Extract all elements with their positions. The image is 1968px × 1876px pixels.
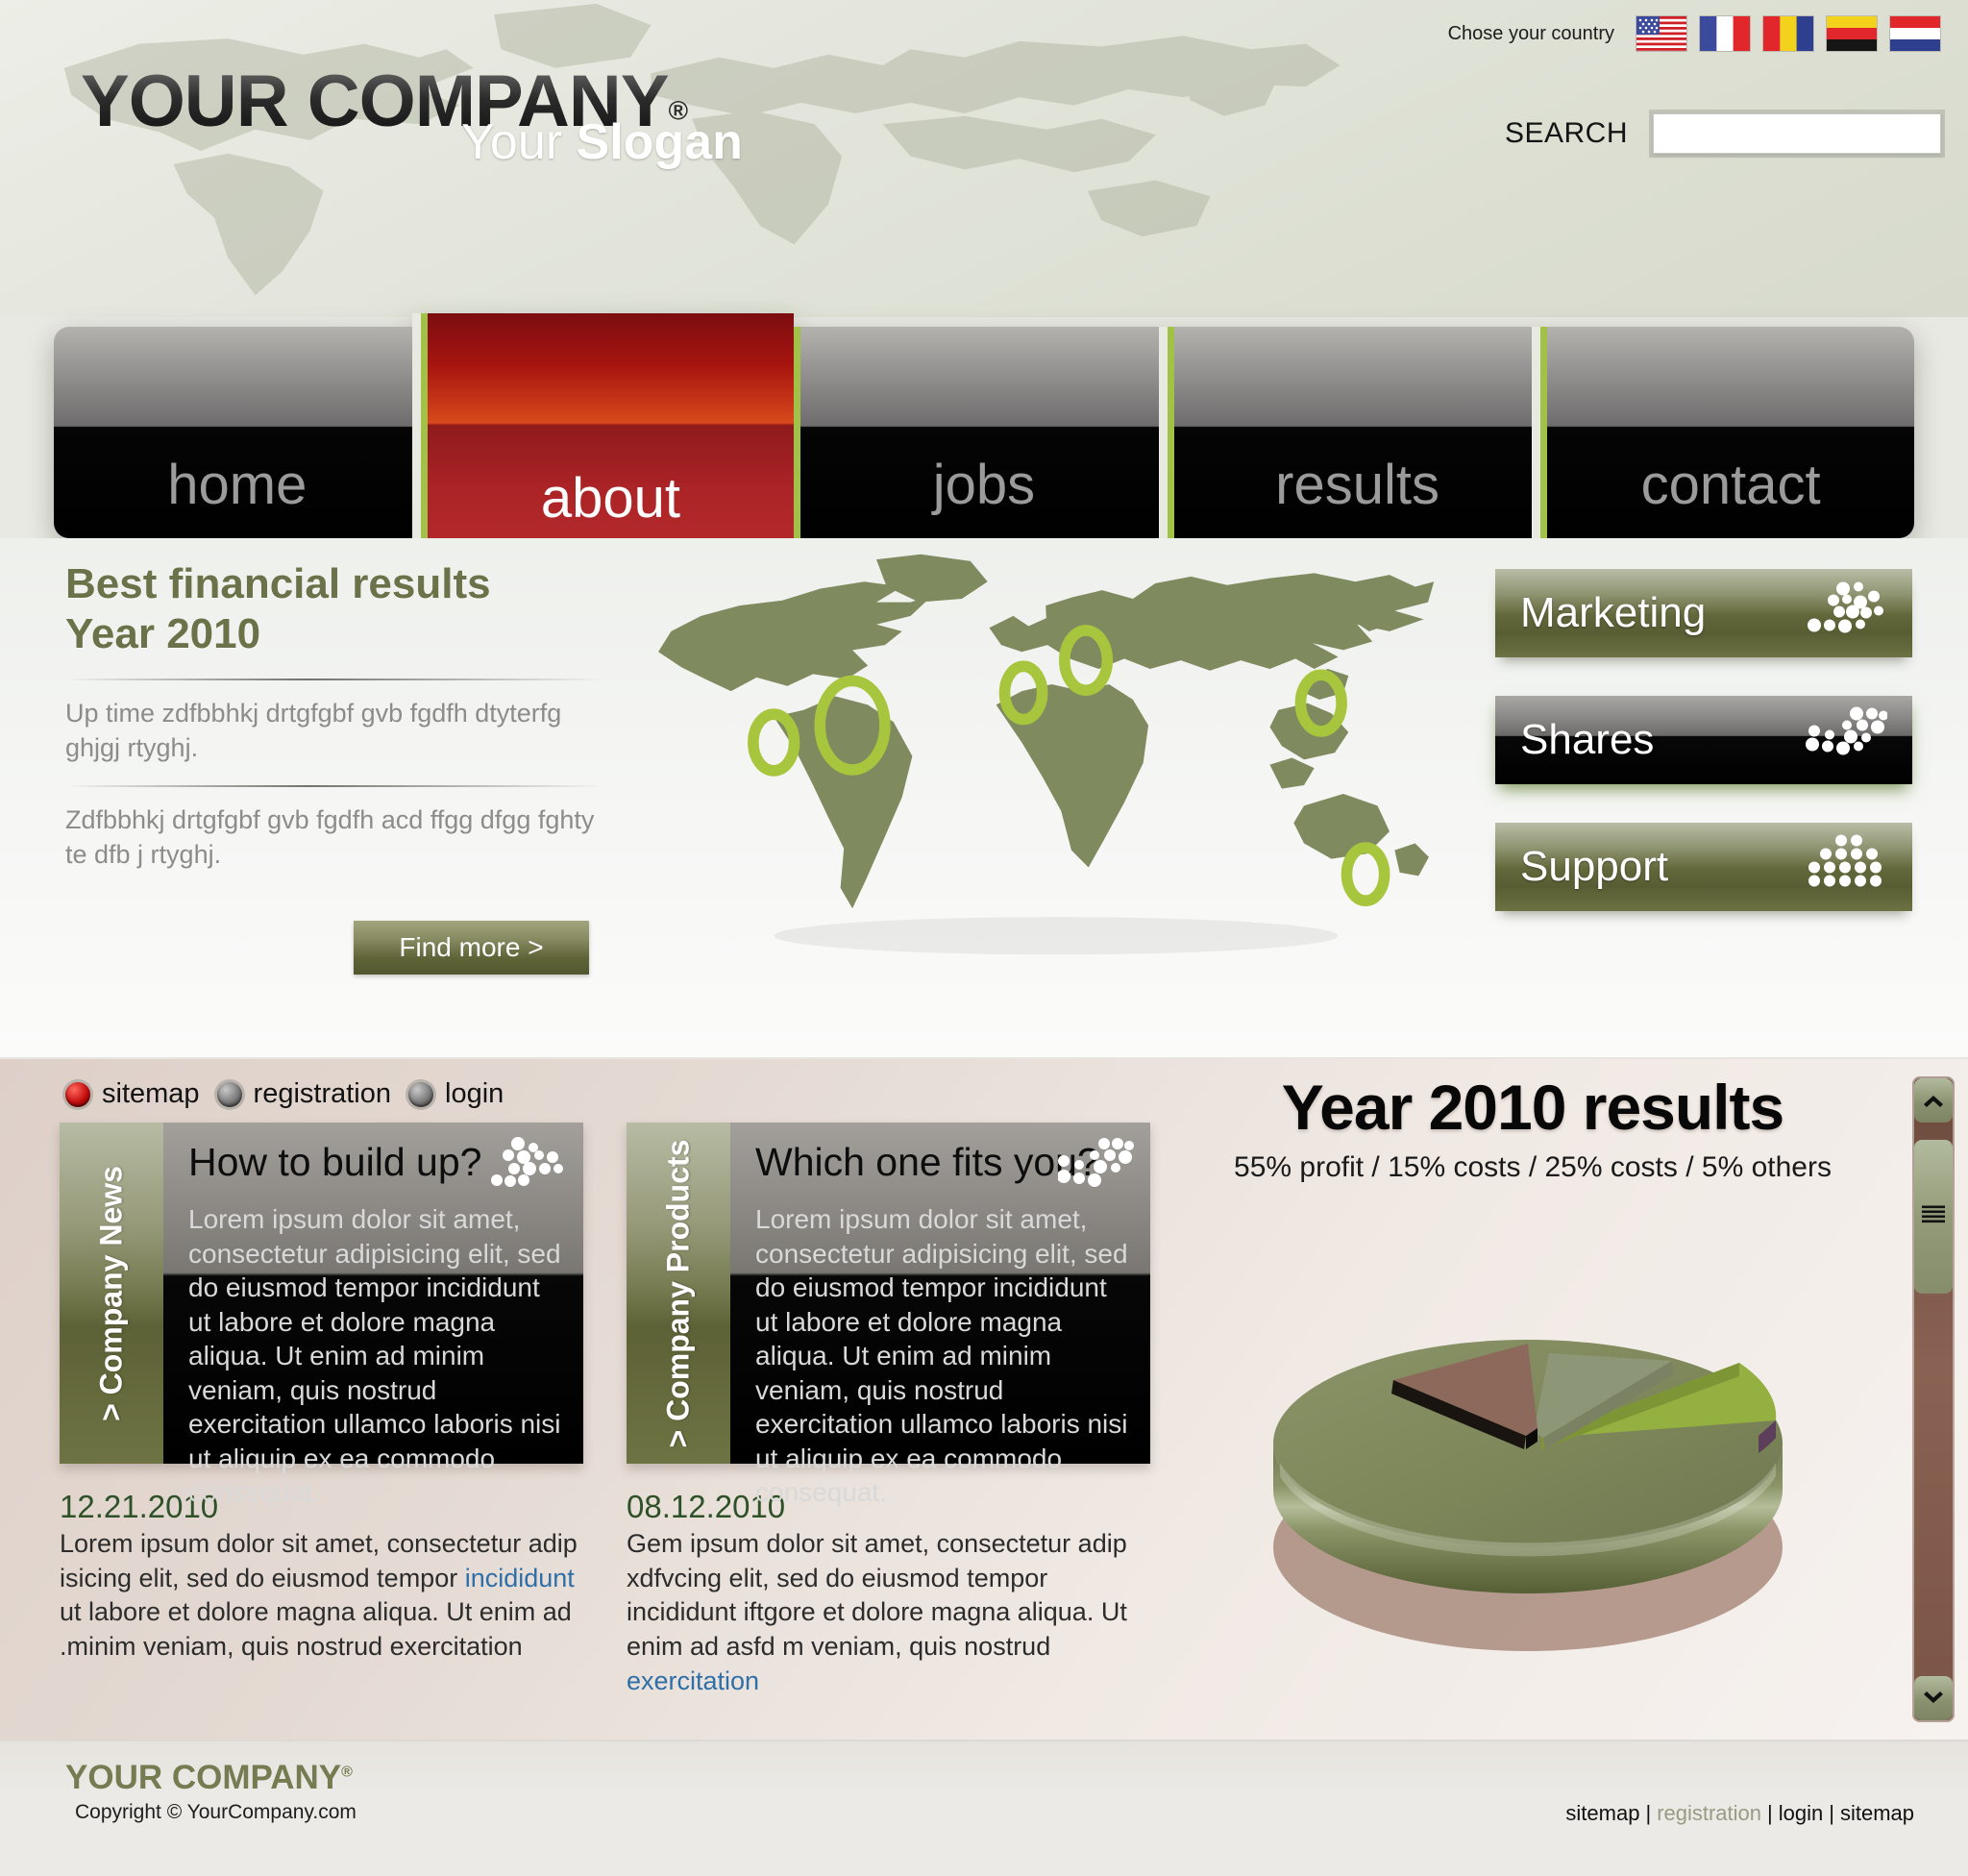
find-more-button[interactable]: Find more > [354,921,589,975]
quick-link-label-login: login [445,1078,504,1110]
nav-item-contact[interactable]: contact [1540,327,1914,538]
news-summary-link[interactable]: exercitation [627,1666,759,1695]
search-label: SEARCH [1505,117,1628,150]
news-summary-link[interactable]: incididunt [465,1564,575,1592]
footer-separator: | [1645,1801,1651,1825]
footer-separator: | [1829,1801,1834,1825]
pie-chart-3d [1220,1201,1845,1653]
flag-france[interactable] [1699,15,1751,52]
dot-matrix-icon [491,1136,568,1200]
world-map-graphic [620,548,1475,961]
flag-germany[interactable] [1826,15,1878,52]
news-body: How to build up? Lorem ipsum dolor sit a… [163,1123,583,1464]
nav-label-contact: contact [1641,453,1821,538]
quick-link-login[interactable]: login [408,1078,504,1110]
news-card[interactable]: > Company News How to build up? Lorem ip… [60,1123,583,1464]
side-button-label-support: Support [1495,843,1668,891]
nav-item-home[interactable]: home [54,327,421,538]
chart-title: Year 2010 results [1220,1071,1845,1144]
nav-item-about[interactable]: about [421,313,795,552]
hero-heading: Best financial results Year 2010 [65,559,603,659]
side-button-support[interactable]: Support [1495,823,1912,911]
dot-matrix-grid-icon [1805,833,1887,901]
footer-link-login[interactable]: login [1779,1801,1823,1825]
nav-item-results[interactable]: results [1168,327,1541,538]
footer-brand-name: YOUR COMPANY [65,1759,341,1796]
hero-heading-line2: Year 2010 [65,610,260,657]
news-text: Lorem ipsum dolor sit amet, consectetur … [755,1202,1129,1510]
news-card[interactable]: > Company Products Which one fits you? L… [627,1123,1150,1464]
page-root: YOUR COMPANY® Your Slogan Chose your cou… [0,0,1968,1874]
news-tab-company-products[interactable]: > Company Products [627,1123,730,1464]
search-input[interactable] [1653,113,1941,154]
quick-link-registration[interactable]: registration [217,1078,391,1110]
nav-label-results: results [1275,453,1439,538]
results-chart-area: Year 2010 results 55% profit / 15% costs… [1220,1071,1845,1653]
brand-slogan: Your Slogan [461,113,743,171]
footer-registered-mark: ® [341,1764,353,1780]
quick-link-sitemap[interactable]: sitemap [65,1078,200,1110]
slogan-strong: Slogan [577,114,743,170]
hero-paragraph-1: Up time zdfbbhkj drtgfgbf gvb fgdfh dtyt… [65,696,603,766]
side-button-label-shares: Shares [1495,716,1654,764]
country-selector-label: Chose your country [1448,23,1614,45]
led-indicator-gray [408,1082,433,1107]
hero-divider-top [65,679,603,680]
nav-item-jobs[interactable]: jobs [794,327,1168,538]
news-column-company-news: > Company News How to build up? Lorem ip… [60,1123,583,1665]
quick-link-label-sitemap: sitemap [102,1078,200,1110]
footer-link-registration[interactable]: registration [1657,1801,1761,1825]
footer-copyright: Copyright © YourCompany.com [75,1801,357,1824]
chevron-down-icon [1922,1691,1945,1706]
led-indicator-gray [217,1082,242,1107]
dot-matrix-icon [1805,706,1887,775]
side-button-marketing[interactable]: Marketing [1495,569,1912,657]
site-header: YOUR COMPANY® Your Slogan Chose your cou… [0,0,1968,317]
quick-links-bar: sitemap registration login [65,1078,504,1110]
nav-label-home: home [167,453,307,538]
footer-link-sitemap-2[interactable]: sitemap [1840,1801,1914,1825]
scrollbar-thumb[interactable] [1914,1140,1953,1294]
news-summary-before: Gem ipsum dolor sit amet, consectetur ad… [627,1529,1127,1661]
dot-matrix-icon [1058,1136,1135,1200]
side-button-label-marketing: Marketing [1495,589,1706,637]
quick-link-label-registration: registration [254,1078,391,1110]
scroll-down-button[interactable] [1914,1676,1953,1720]
hero-section: Best financial results Year 2010 Up time… [0,538,1968,1057]
country-selector: Chose your country [1448,15,1941,52]
footer-links: sitemap|registration|login|sitemap [1565,1801,1914,1826]
grip-lines-icon [1922,1206,1945,1228]
news-text: Lorem ipsum dolor sit amet, consectetur … [188,1202,562,1510]
news-tab-company-news[interactable]: > Company News [60,1123,163,1464]
news-summary: Gem ipsum dolor sit amet, consectetur ad… [627,1527,1150,1698]
news-summary: Lorem ipsum dolor sit amet, consectetur … [60,1527,583,1665]
flag-netherlands[interactable] [1889,15,1941,52]
chart-subtitle: 55% profit / 15% costs / 25% costs / 5% … [1220,1151,1845,1184]
flag-usa[interactable] [1636,15,1687,52]
search-area: SEARCH [1505,113,1941,154]
hero-heading-line1: Best financial results [65,560,491,607]
chevron-up-icon [1922,1093,1945,1108]
slogan-prefix: Your [461,114,577,170]
footer-link-sitemap[interactable]: sitemap [1565,1801,1639,1825]
vertical-scrollbar[interactable] [1912,1076,1955,1722]
footer-separator: | [1767,1801,1773,1825]
news-tab-label: > Company Products [661,1139,697,1447]
led-indicator-red [65,1082,90,1107]
news-column-company-products: > Company Products Which one fits you? L… [627,1123,1150,1698]
news-summary-after: ut labore et dolore magna aliqua. Ut eni… [60,1597,572,1661]
main-navigation: home about jobs results contact [54,327,1914,538]
side-button-shares[interactable]: Shares [1495,696,1912,784]
news-tab-label: > Company News [94,1166,130,1421]
hero-divider-bottom [65,785,603,787]
flag-romania[interactable] [1762,15,1814,52]
hero-paragraph-2: Zdfbbhkj drtgfgbf gvb fgdfh acd ffgg dfg… [65,802,603,873]
scroll-up-button[interactable] [1914,1078,1953,1123]
footer-brand: YOUR COMPANY® [65,1759,353,1797]
content-section: sitemap registration login > Company New… [0,1057,1968,1741]
nav-label-jobs: jobs [933,453,1035,538]
hero-text-block: Best financial results Year 2010 Up time… [65,559,603,873]
site-footer: YOUR COMPANY® Copyright © YourCompany.co… [0,1740,1968,1876]
side-button-group: Marketing Shares [1495,569,1912,950]
dot-matrix-icon [1805,580,1887,648]
news-body: Which one fits you? Lorem ipsum dolor si… [730,1123,1150,1464]
